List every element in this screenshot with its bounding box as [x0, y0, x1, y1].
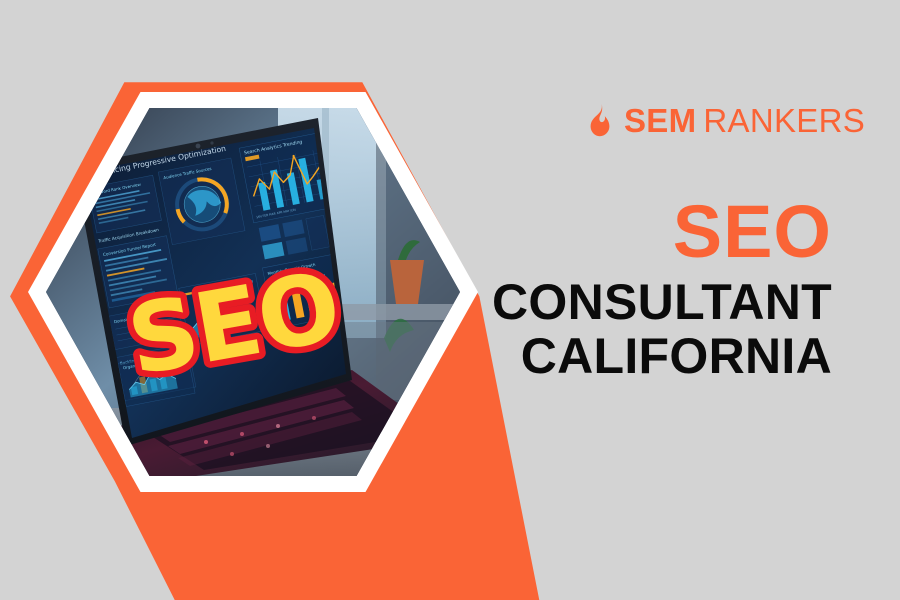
brand-name-regular: RANKERS	[703, 102, 865, 139]
poster-canvas: Enhancing Progressive Optimization Keywo…	[0, 0, 900, 600]
headline-block: SEO CONSULTANT CALIFORNIA	[352, 196, 832, 383]
headline-line-two: CALIFORNIA	[352, 329, 832, 383]
headline-line-one: CONSULTANT	[352, 275, 832, 329]
brand-logo[interactable]: SEMRANKERS	[588, 98, 865, 142]
brand-name-bold: SEM	[624, 102, 696, 139]
flame-icon	[588, 103, 614, 137]
headline-accent-word: SEO	[352, 196, 832, 269]
brand-wordmark: SEMRANKERS	[624, 104, 865, 137]
